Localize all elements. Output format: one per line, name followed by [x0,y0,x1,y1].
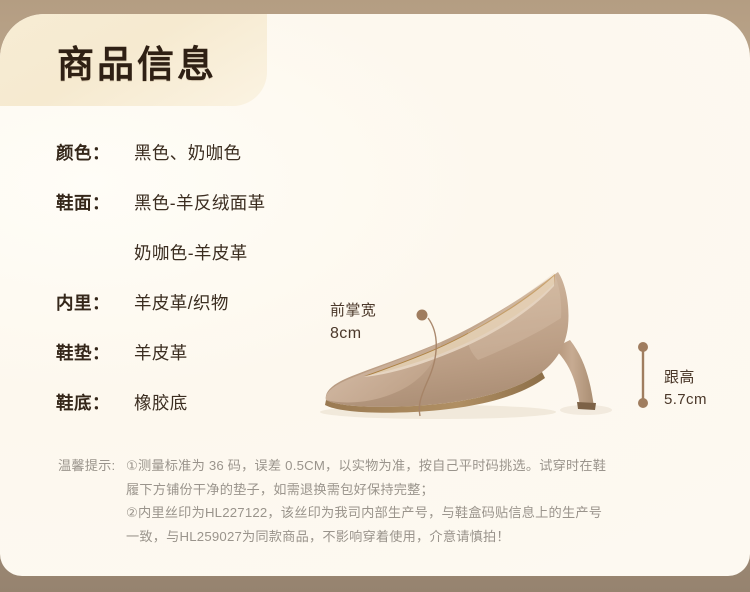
spec-label-insole: 鞋垫： [56,340,134,365]
notice-text-3: ②内里丝印为HL227122，该丝印为我司内部生产号，与鞋盒码贴信息上的生产号 [126,501,698,525]
spec-value-upper-camel: 奶咖色-羊皮革 [134,240,248,265]
spec-row-lining: 内里： 羊皮革/织物 [56,290,356,340]
notice-tag: 温馨提示: [58,454,126,478]
notice-line-1: 温馨提示: ①测量标准为 36 码，误差 0.5CM，以实物为准，按自己平时码挑… [58,454,698,478]
front-width-label: 前掌宽 [330,300,376,322]
spec-row-outsole: 鞋底： 橡胶底 [56,390,356,440]
heel-height-value: 5.7cm [664,389,707,411]
page-title: 商品信息 [57,34,217,88]
notice-text-2: 履下方铺份干净的垫子，如需退换需包好保持完整； [126,478,698,502]
heel-height-callout: 跟高 5.7cm [664,367,707,411]
notice-line-3: 温馨提示: ②内里丝印为HL227122，该丝印为我司内部生产号，与鞋盒码贴信息… [58,501,698,525]
front-width-value: 8cm [330,322,376,345]
product-info-page: 商品信息 颜色： 黑色、奶咖色 鞋面： 黑色-羊反绒面革 鞋面： 奶咖色-羊皮革… [0,0,750,592]
spec-label-lining: 内里： [56,290,134,315]
spec-label-upper: 鞋面： [56,190,134,215]
spec-row-color: 颜色： 黑色、奶咖色 [56,140,356,190]
info-card: 商品信息 颜色： 黑色、奶咖色 鞋面： 黑色-羊反绒面革 鞋面： 奶咖色-羊皮革… [0,14,750,576]
notice-line-4: 温馨提示: 一致，与HL259027为同款商品，不影响穿着使用，介意请慎拍！ [58,525,698,549]
notice-block: 温馨提示: ①测量标准为 36 码，误差 0.5CM，以实物为准，按自己平时码挑… [58,454,698,548]
spec-label-color: 颜色： [56,140,134,165]
spec-value-lining: 羊皮革/织物 [134,290,229,315]
heel-height-label: 跟高 [664,367,707,389]
heel-height-measure-line [637,342,649,408]
front-width-callout: 前掌宽 8cm [330,300,376,345]
spec-value-upper-black: 黑色-羊反绒面革 [134,190,266,215]
section-banner: 商品信息 [0,14,267,106]
spec-row-upper-second: 鞋面： 奶咖色-羊皮革 [56,240,356,290]
notice-text-4: 一致，与HL259027为同款商品，不影响穿着使用，介意请慎拍！ [126,525,698,549]
notice-line-2: 温馨提示: 履下方铺份干净的垫子，如需退换需包好保持完整； [58,478,698,502]
spec-row-insole: 鞋垫： 羊皮革 [56,340,356,390]
spec-label-outsole: 鞋底： [56,390,134,415]
spec-value-insole: 羊皮革 [134,340,188,365]
spec-value-outsole: 橡胶底 [134,390,188,415]
notice-text-1: ①测量标准为 36 码，误差 0.5CM，以实物为准，按自己平时码挑选。试穿时在… [126,454,698,478]
spec-row-upper: 鞋面： 黑色-羊反绒面革 [56,190,356,240]
spec-list: 颜色： 黑色、奶咖色 鞋面： 黑色-羊反绒面革 鞋面： 奶咖色-羊皮革 内里： … [56,140,356,440]
front-width-measure-line [404,306,450,418]
spec-value-color: 黑色、奶咖色 [134,140,241,165]
